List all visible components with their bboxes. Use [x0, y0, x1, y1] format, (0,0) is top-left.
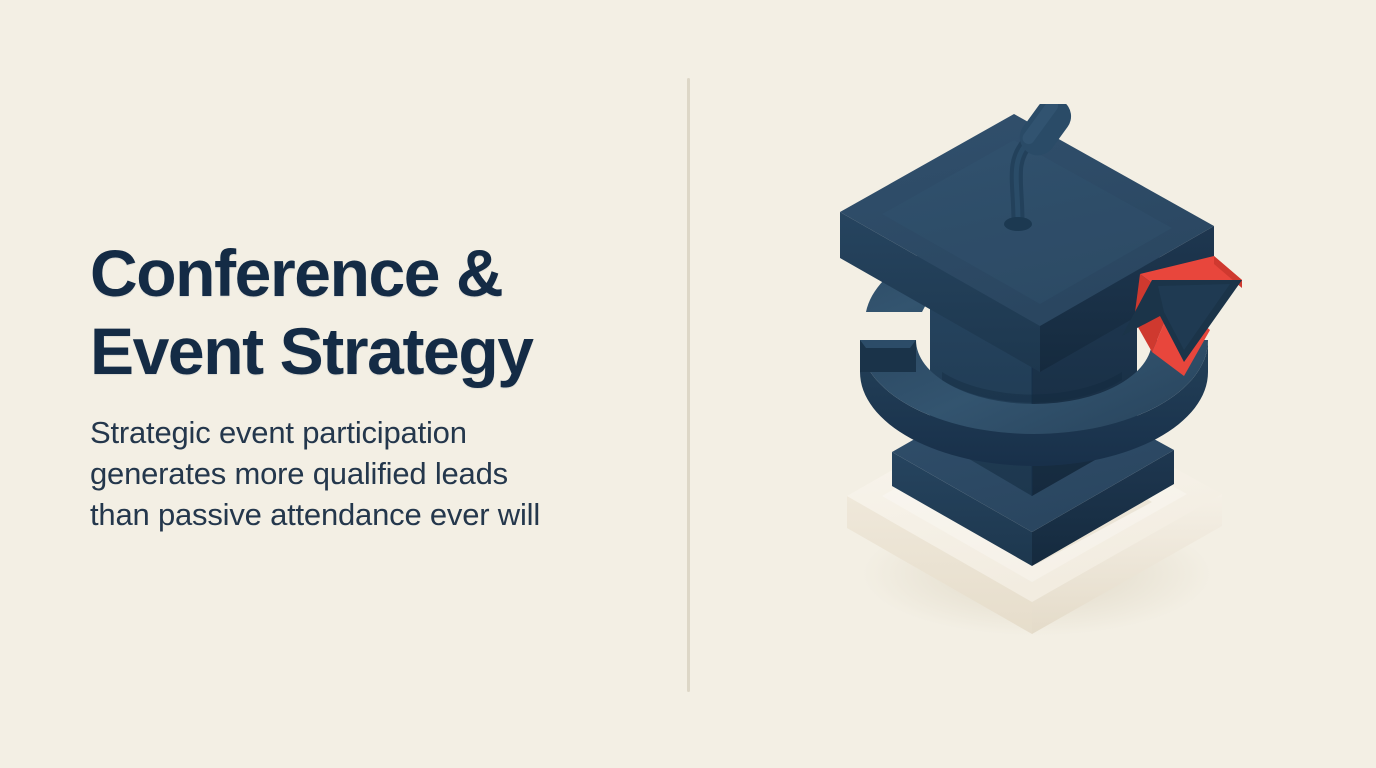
ring-open-end [860, 340, 916, 372]
page-title: Conference & Event Strategy [90, 234, 533, 390]
isometric-podium-illustration [822, 104, 1242, 664]
page-subtitle: Strategic event participation generates … [90, 412, 540, 535]
slide-canvas: Conference & Event Strategy Strategic ev… [0, 0, 1376, 768]
illustration-column [688, 0, 1376, 768]
text-column: Conference & Event Strategy Strategic ev… [90, 0, 660, 768]
arrow-head [1122, 256, 1242, 376]
